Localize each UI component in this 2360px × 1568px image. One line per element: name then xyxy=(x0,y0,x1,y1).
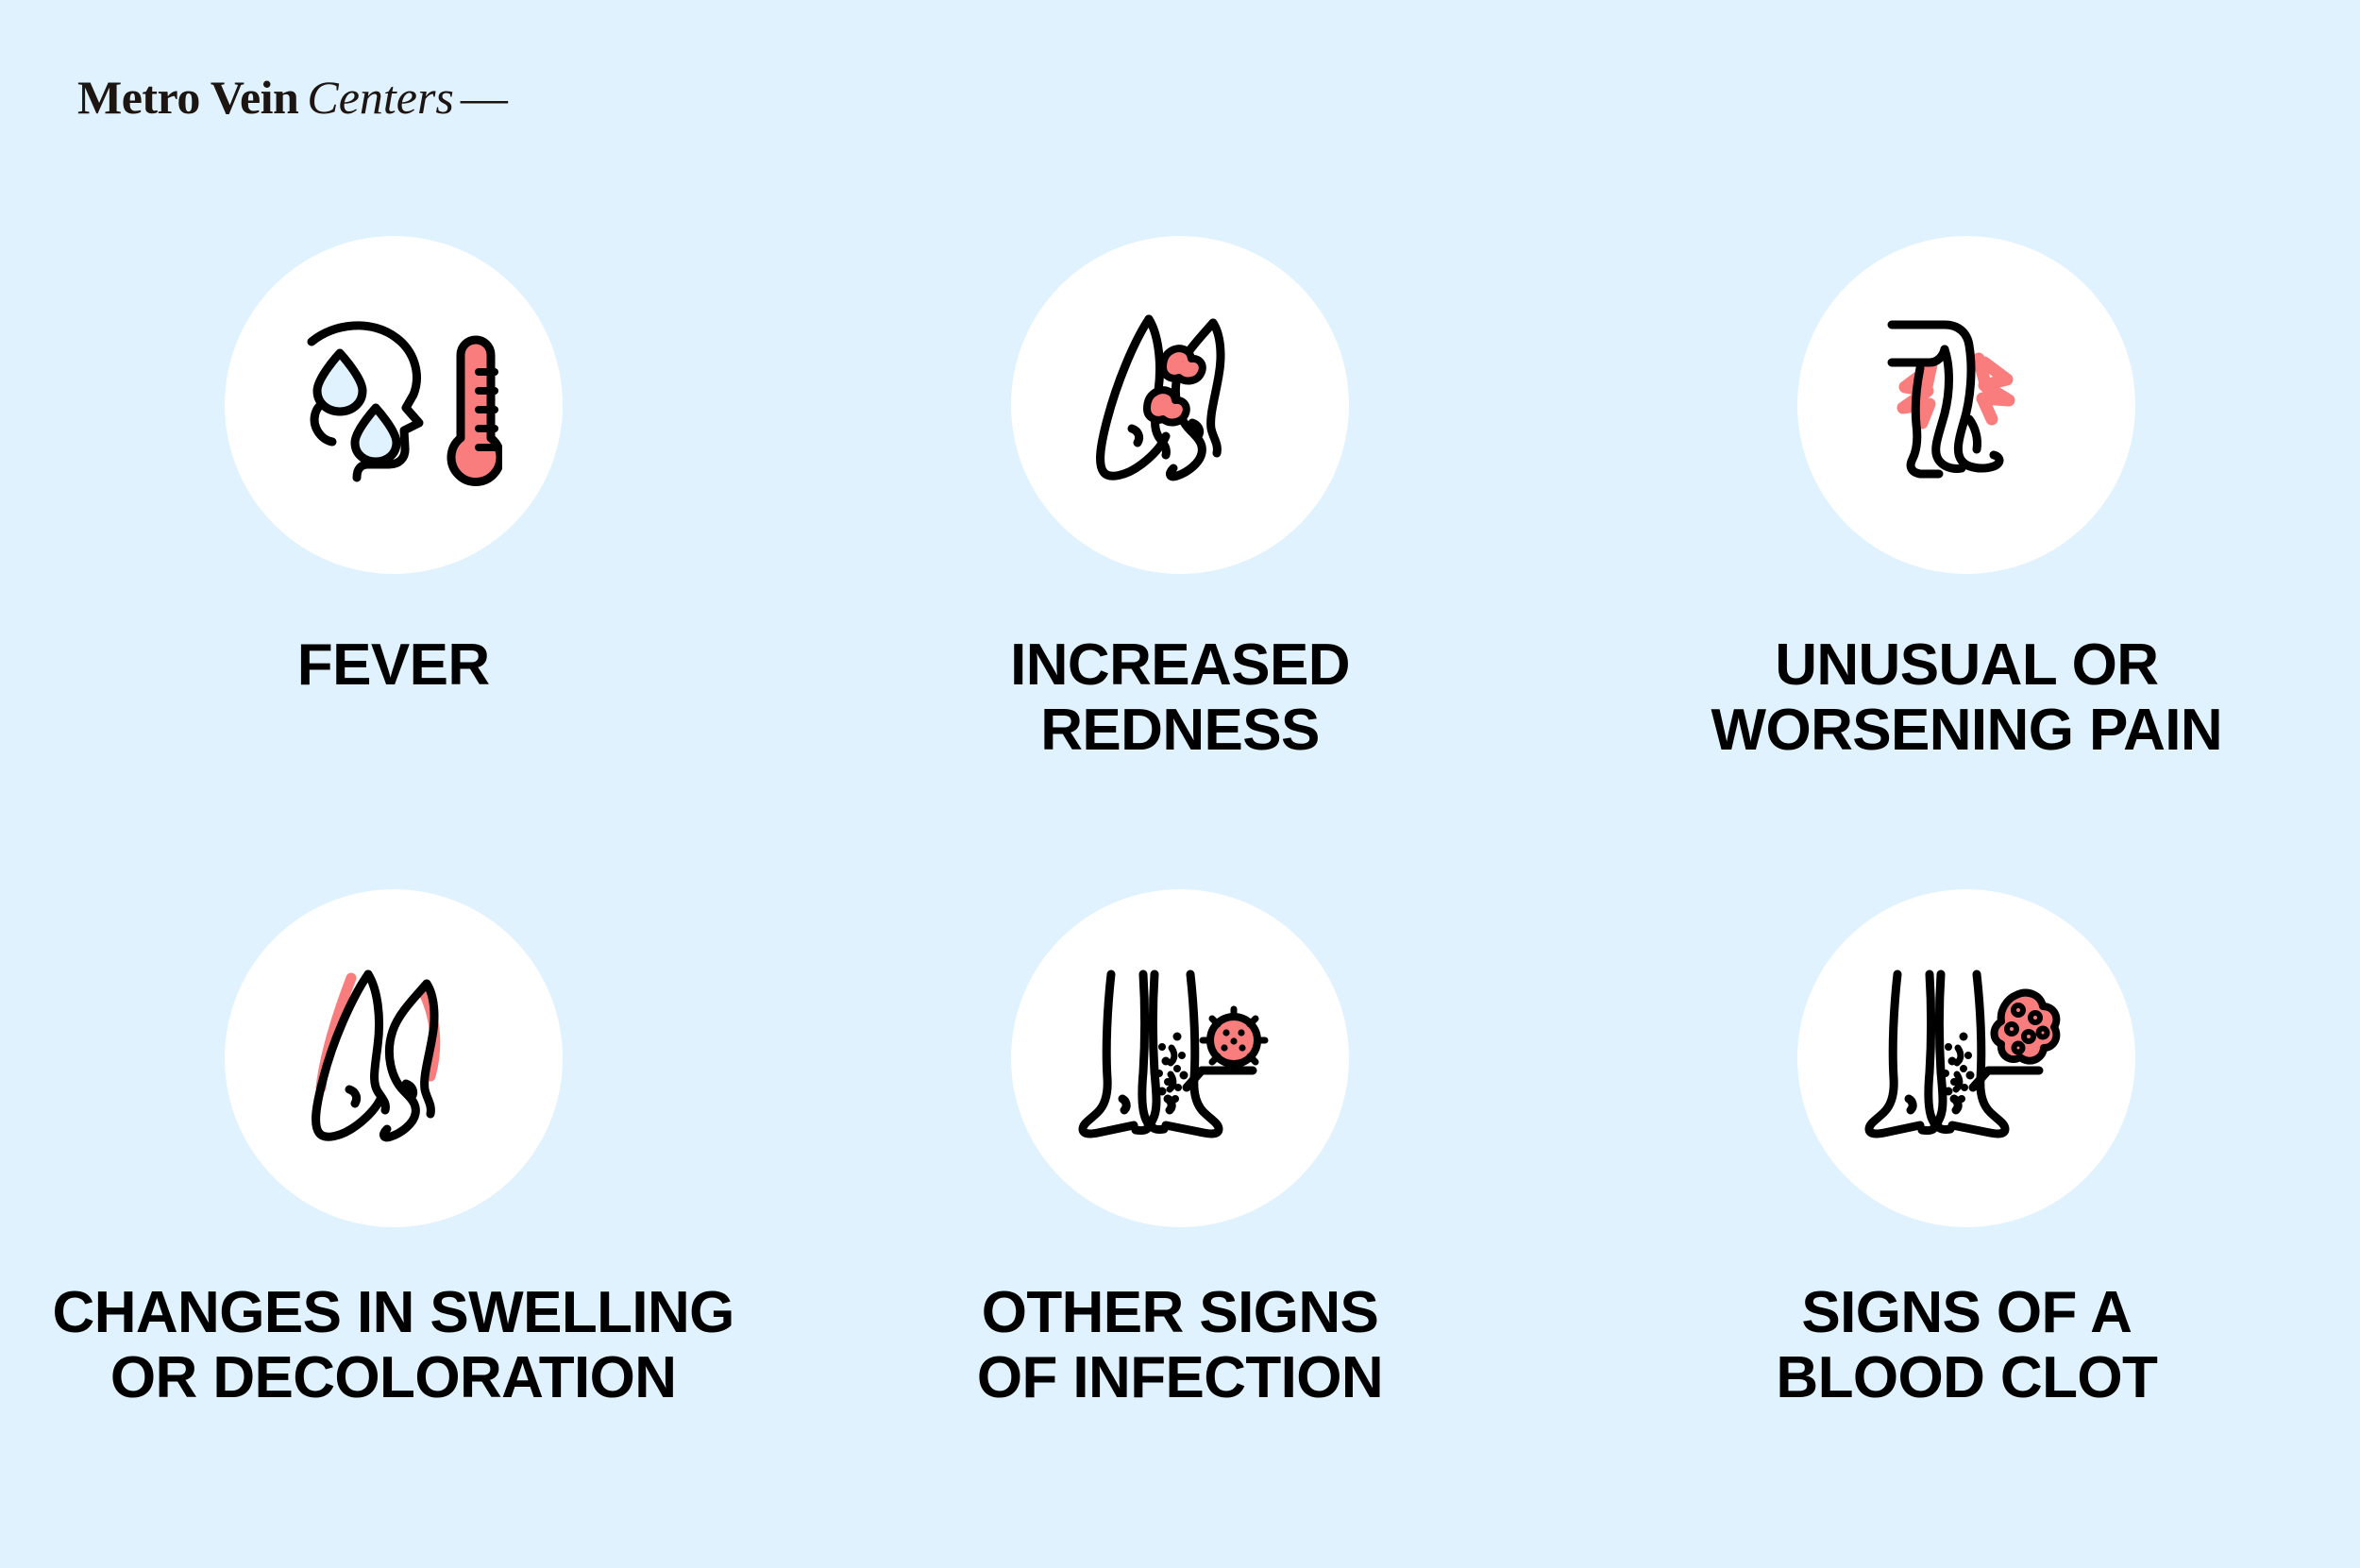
thermometer-icon xyxy=(451,340,500,481)
legs-red-blotches-icon xyxy=(1071,296,1289,514)
pain-burst-icon xyxy=(1979,359,2009,419)
card-other-signs-of-infection: OTHER SIGNS OF INFECTION xyxy=(786,878,1573,1520)
brand-primary-text: Metro Vein xyxy=(77,71,298,124)
legs-swelling-lines-icon xyxy=(285,950,502,1167)
card-label-unusual-or-worsening-pain: UNUSUAL OR WORSENING PAIN xyxy=(1711,632,2223,764)
icon-disc-increased-redness xyxy=(1011,236,1349,574)
red-blotch-icon xyxy=(1147,390,1187,422)
brand-dash: — xyxy=(461,71,508,124)
card-fever: FEVER xyxy=(0,236,786,878)
card-label-fever: FEVER xyxy=(297,632,490,698)
card-label-increased-redness: INCREASED REDNESS xyxy=(1010,632,1350,764)
rash-speckles-icon xyxy=(1942,1033,1975,1104)
brand-secondary-text: Centers xyxy=(307,71,454,124)
sweat-drop-icon xyxy=(355,408,396,462)
card-unusual-or-worsening-pain: UNUSUAL OR WORSENING PAIN xyxy=(1574,236,2360,878)
brand-logo: Metro VeinCenters— xyxy=(77,74,508,121)
rash-speckles-icon xyxy=(1155,1033,1188,1104)
icon-disc-pain xyxy=(1797,236,2135,574)
icon-disc-infection xyxy=(1011,889,1349,1227)
legs-rash-clot-icon xyxy=(1858,950,2075,1167)
icon-disc-swelling xyxy=(225,889,563,1227)
icon-disc-fever xyxy=(225,236,563,574)
card-label-other-signs-of-infection: OTHER SIGNS OF INFECTION xyxy=(977,1280,1383,1411)
legs-pain-burst-icon xyxy=(1858,296,2075,514)
icon-disc-blood-clot xyxy=(1797,889,2135,1227)
card-label-changes-in-swelling: CHANGES IN SWELLING OR DECOLORATION xyxy=(53,1280,734,1411)
germ-icon xyxy=(1203,1009,1265,1071)
card-label-signs-of-a-blood-clot: SIGNS OF A BLOOD CLOT xyxy=(1776,1280,2157,1411)
blood-clot-icon xyxy=(1995,993,2057,1061)
card-increased-redness: INCREASED REDNESS xyxy=(786,236,1573,878)
card-changes-in-swelling: CHANGES IN SWELLING OR DECOLORATION xyxy=(0,878,786,1520)
sweating-head-thermometer-icon xyxy=(285,296,502,514)
sweat-drop-icon xyxy=(317,353,362,412)
legs-rash-germ-icon xyxy=(1071,950,1289,1167)
warning-signs-grid: FEVER xyxy=(0,236,2360,1520)
card-signs-of-a-blood-clot: SIGNS OF A BLOOD CLOT xyxy=(1574,878,2360,1520)
red-blotch-icon xyxy=(1163,348,1203,380)
